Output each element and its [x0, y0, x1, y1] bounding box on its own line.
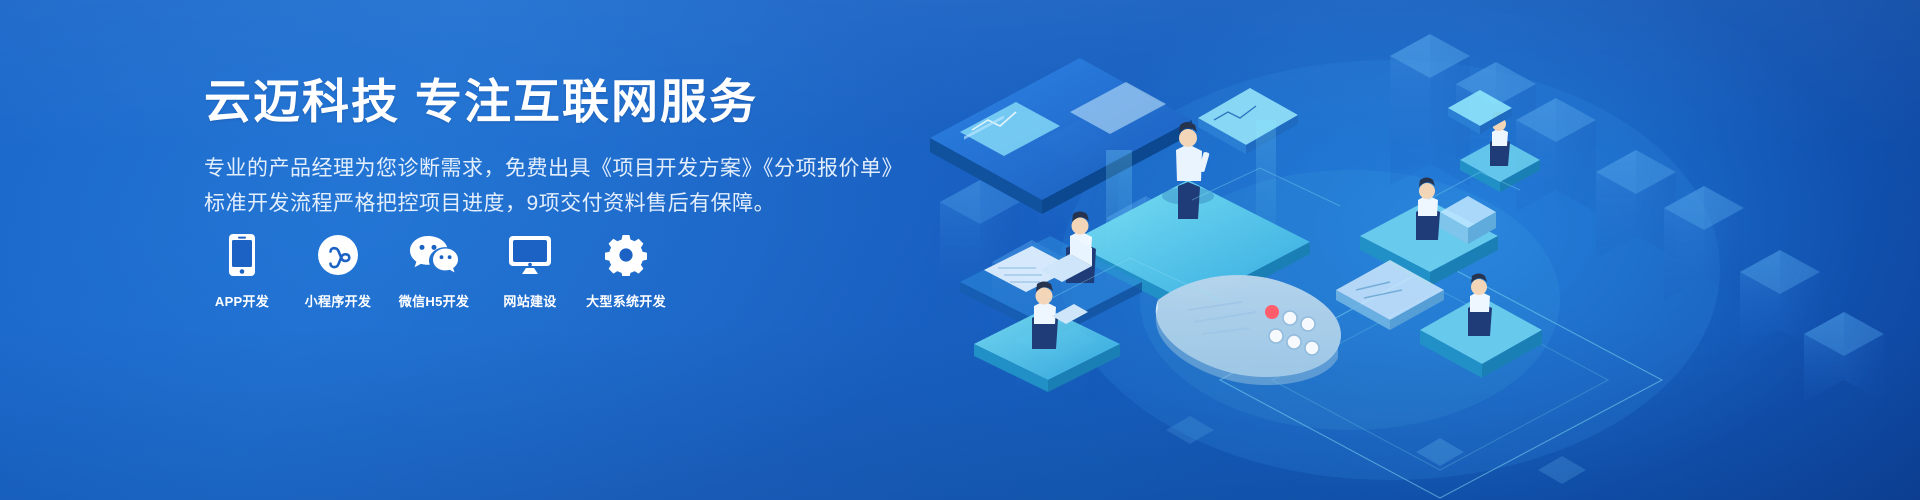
service-label: 网站建设 — [503, 294, 556, 310]
mini-program-icon — [317, 232, 359, 278]
service-label: APP开发 — [215, 294, 269, 310]
monitor-icon — [508, 232, 552, 278]
subtitle-line-1: 专业的产品经理为您诊断需求，免费出具《项目开发方案》《分项报价单》 — [204, 152, 924, 185]
service-item-mini-program[interactable]: 小程序开发 — [300, 232, 376, 310]
isometric-illustration — [920, 0, 1920, 500]
service-item-website[interactable]: 网站建设 — [492, 232, 568, 310]
service-label: 微信H5开发 — [399, 294, 469, 310]
mobile-phone-icon — [228, 232, 256, 278]
service-icon-row: APP开发 小程序开发 微信 — [204, 232, 664, 310]
hero-banner: 云迈科技 专注互联网服务 专业的产品经理为您诊断需求，免费出具《项目开发方案》《… — [0, 0, 1920, 500]
service-label: 小程序开发 — [305, 294, 372, 310]
service-item-app[interactable]: APP开发 — [204, 232, 280, 310]
subtitle-line-2: 标准开发流程严格把控项目进度，9项交付资料售后有保障。 — [204, 187, 924, 220]
service-label: 大型系统开发 — [586, 294, 666, 310]
gear-icon — [605, 232, 647, 278]
hero-text-block: 云迈科技 专注互联网服务 专业的产品经理为您诊断需求，免费出具《项目开发方案》《… — [204, 74, 924, 220]
page-title: 云迈科技 专注互联网服务 — [204, 74, 924, 130]
service-item-large-system[interactable]: 大型系统开发 — [588, 232, 664, 310]
wechat-icon — [409, 232, 459, 278]
service-item-wechat-h5[interactable]: 微信H5开发 — [396, 232, 472, 310]
